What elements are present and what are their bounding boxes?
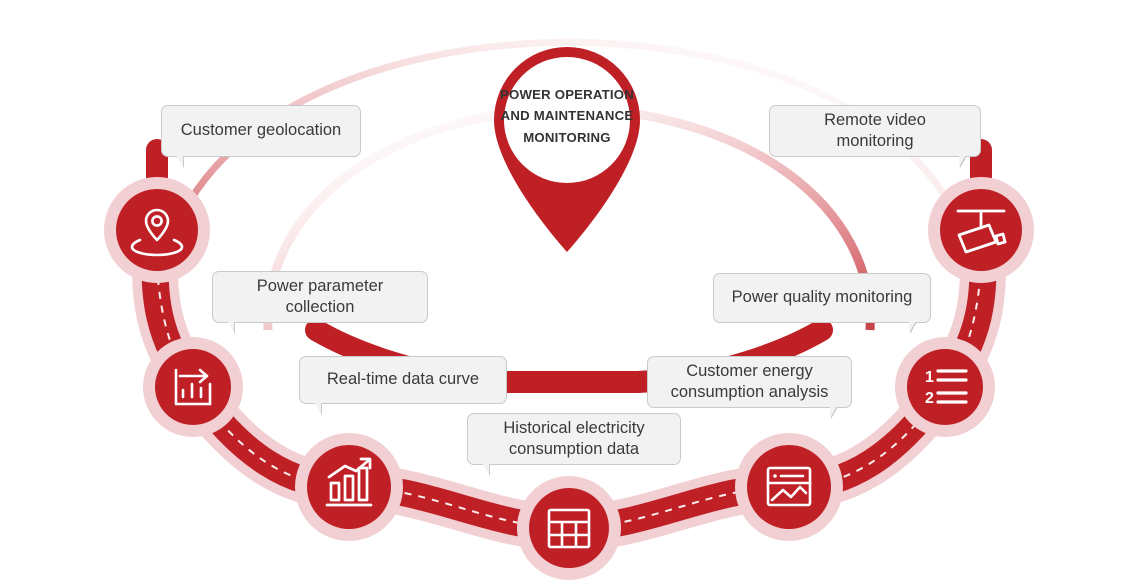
infographic-canvas: 1 2 xyxy=(0,0,1139,587)
node-remote-video-monitoring[interactable] xyxy=(928,177,1034,283)
label-historical-electricity-data[interactable]: Historical electricity consumption data xyxy=(467,413,681,465)
label-real-time-data-curve[interactable]: Real-time data curve xyxy=(299,356,507,404)
node-historical-electricity-data[interactable] xyxy=(517,476,621,580)
node-customer-energy-consumption[interactable] xyxy=(735,433,843,541)
svg-text:1: 1 xyxy=(925,369,934,386)
center-map-pin xyxy=(494,47,640,252)
node-customer-geolocation[interactable] xyxy=(104,177,210,283)
node-power-parameter-collection[interactable] xyxy=(143,337,243,437)
node-real-time-data-curve[interactable] xyxy=(295,433,403,541)
label-customer-energy-consumption[interactable]: Customer energy consumption analysis xyxy=(647,356,852,408)
node-power-quality-monitoring[interactable]: 1 2 xyxy=(895,337,995,437)
label-power-quality-monitoring[interactable]: Power quality monitoring xyxy=(713,273,931,323)
center-pin-title: POWER OPERATION AND MAINTENANCE MONITORI… xyxy=(491,84,643,148)
label-customer-geolocation[interactable]: Customer geolocation xyxy=(161,105,361,157)
svg-text:2: 2 xyxy=(925,390,934,407)
label-power-parameter-collection[interactable]: Power parameter collection xyxy=(212,271,428,323)
label-remote-video-monitoring[interactable]: Remote video monitoring xyxy=(769,105,981,157)
